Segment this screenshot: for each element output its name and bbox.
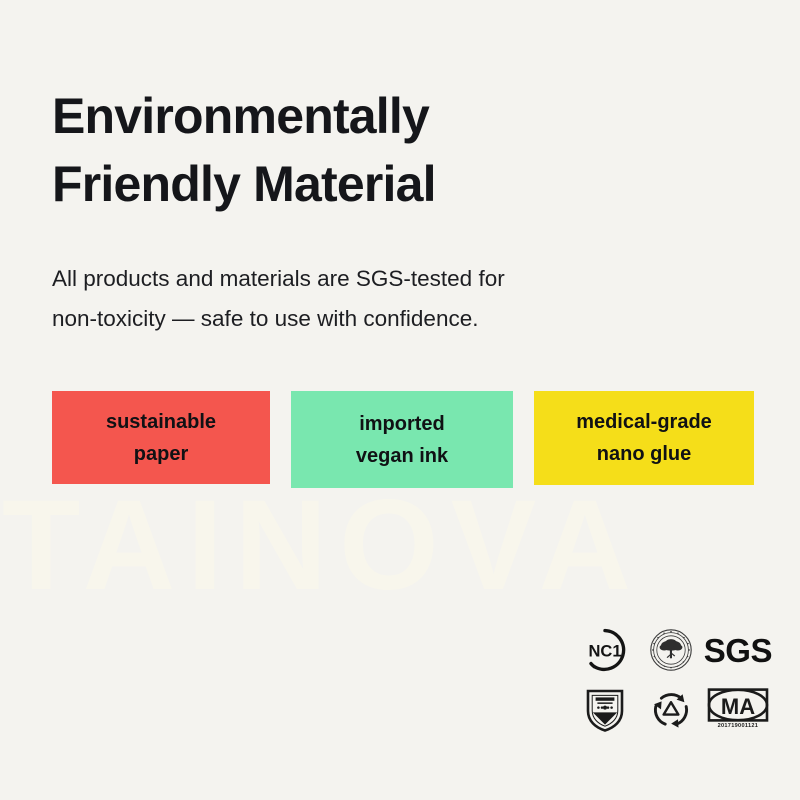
badge-sustainable-paper: sustainable paper — [52, 391, 270, 484]
badge-sustainable-paper-line-1: sustainable — [106, 406, 216, 438]
description-text: All products and materials are SGS-teste… — [52, 259, 692, 341]
sgs-certification-icon: SGS — [704, 634, 772, 667]
shield-certification-icon — [583, 685, 627, 733]
page-title-line-2: Friendly Material — [52, 150, 752, 218]
badge-sustainable-paper-line-2: paper — [134, 438, 188, 470]
certification-logo-group: NC1 — [572, 622, 772, 740]
recycling-certification-icon — [648, 686, 694, 732]
badge-imported-vegan-ink-line-2: vegan ink — [356, 440, 448, 472]
badge-imported-vegan-ink: imported vegan ink — [291, 391, 513, 488]
nc1-certification-icon: NC1 — [582, 627, 628, 673]
page-title-line-1: Environmentally — [52, 82, 752, 150]
tree-seal-certification-icon — [648, 627, 694, 673]
cma-certification-number: 201719001121 — [718, 724, 759, 730]
badge-medical-grade-nano-glue-line-1: medical-grade — [576, 406, 712, 438]
description-line-1: All products and materials are SGS-teste… — [52, 259, 692, 300]
badge-medical-grade-nano-glue: medical-grade nano glue — [534, 391, 754, 485]
material-badge-group: sustainable paper imported vegan ink med… — [52, 391, 754, 491]
badge-medical-grade-nano-glue-line-2: nano glue — [597, 438, 691, 470]
cma-certification-icon: MA 201719001121 — [707, 688, 769, 730]
page-title: Environmentally Friendly Material — [52, 82, 752, 218]
svg-text:NC1: NC1 — [588, 643, 621, 661]
badge-imported-vegan-ink-line-1: imported — [359, 408, 445, 440]
brand-watermark: TAINOVA — [2, 482, 798, 610]
svg-text:MA: MA — [721, 694, 755, 719]
promo-panel: TAINOVA Environmentally Friendly Materia… — [0, 0, 800, 800]
sgs-certification-label: SGS — [704, 634, 772, 667]
description-line-2: non-toxicity — safe to use with confiden… — [52, 299, 692, 340]
